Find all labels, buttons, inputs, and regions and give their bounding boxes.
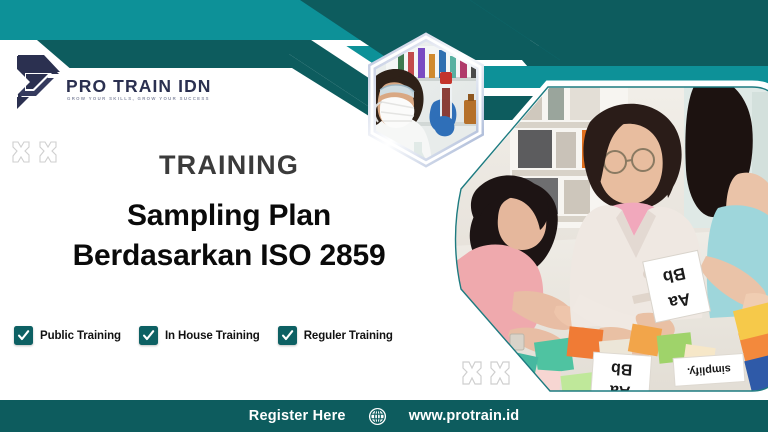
checkbox-checked-icon[interactable] bbox=[278, 326, 297, 345]
training-type-public[interactable]: Public Training bbox=[14, 326, 121, 345]
page-title: Sampling Plan Berdasarkan ISO 2859 bbox=[0, 196, 458, 276]
globe-icon bbox=[368, 407, 387, 426]
title-line-2: Berdasarkan ISO 2859 bbox=[0, 236, 458, 276]
checkbox-checked-icon[interactable] bbox=[139, 326, 158, 345]
poster-canvas: PRO TRAIN IDN GROW YOUR SKILLS, GROW YOU… bbox=[0, 0, 768, 432]
training-type-in-house[interactable]: In House Training bbox=[139, 326, 260, 345]
training-type-label: Reguler Training bbox=[304, 330, 393, 342]
title-line-1: Sampling Plan bbox=[0, 196, 458, 236]
classroom-workshop-hexagon-photo: Bb Aa Bb Aa simplify. bbox=[452, 78, 768, 400]
brand-name: PRO TRAIN IDN bbox=[66, 76, 212, 97]
training-type-label: In House Training bbox=[165, 330, 260, 342]
training-type-label: Public Training bbox=[40, 330, 121, 342]
pro-train-arrow-logo-icon bbox=[14, 52, 62, 112]
svg-text:Bb: Bb bbox=[610, 359, 633, 377]
brand-logo[interactable]: PRO TRAIN IDN GROW YOUR SKILLS, GROW YOU… bbox=[14, 52, 189, 122]
register-here-cta[interactable]: Register Here bbox=[249, 408, 346, 424]
training-type-reguler[interactable]: Reguler Training bbox=[278, 326, 393, 345]
website-url[interactable]: www.protrain.id bbox=[409, 408, 520, 424]
brand-tagline: GROW YOUR SKILLS, GROW YOUR SUCCESS bbox=[67, 96, 210, 101]
checkbox-checked-icon[interactable] bbox=[14, 326, 33, 345]
footer-bar: Register Here www.protrain.id bbox=[0, 400, 768, 432]
lab-scientist-hexagon-photo bbox=[356, 32, 496, 168]
training-types-list: Public Training In House Training Regule… bbox=[14, 326, 393, 345]
